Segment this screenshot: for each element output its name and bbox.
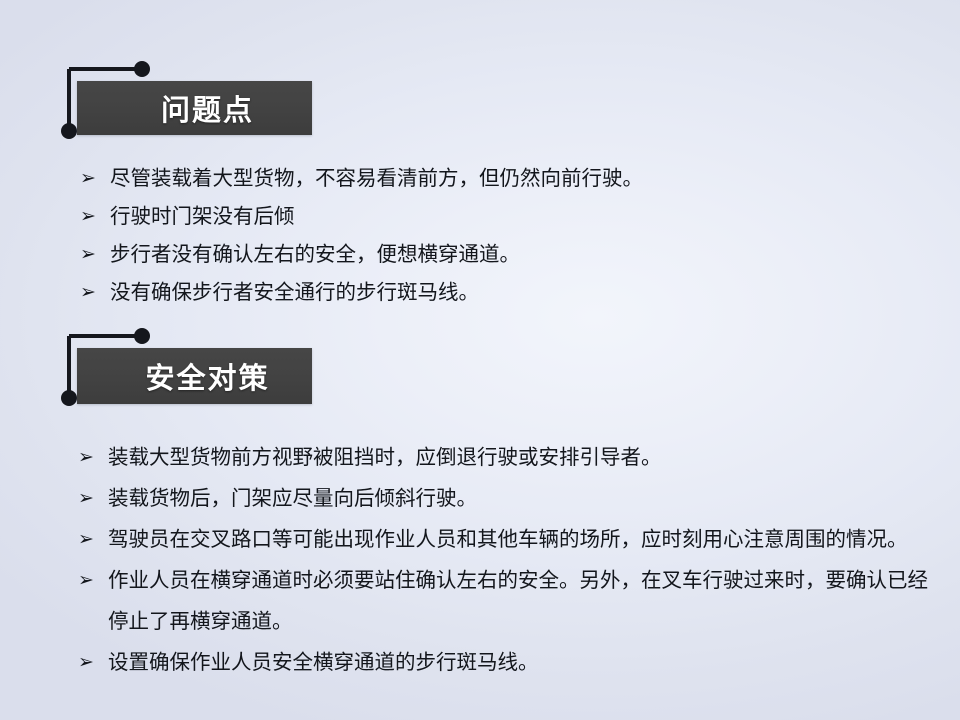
list-item: ➢ 装载大型货物前方视野被阻挡时，应倒退行驶或安排引导者。 [78,437,938,478]
arrow-bullet-icon: ➢ [78,437,108,478]
list-item: ➢ 步行者没有确认左右的安全，便想横穿通道。 [80,236,910,274]
list-item-text: 作业人员在横穿通道时必须要站住确认左右的安全。另外，在叉车行驶过来时，要确认已经… [108,560,938,642]
list-item: ➢ 装载货物后，门架应尽量向后倾斜行驶。 [78,478,938,519]
list-item-text: 驾驶员在交叉路口等可能出现作业人员和其他车辆的场所，应时刻用心注意周围的情况。 [108,519,938,560]
arrow-bullet-icon: ➢ [78,642,108,683]
slide-canvas: 问题点 ➢ 尽管装载着大型货物，不容易看清前方，但仍然向前行驶。 ➢ 行驶时门架… [0,0,960,720]
arrow-bullet-icon: ➢ [78,519,108,560]
section-title-measures: 安全对策 [119,355,269,397]
list-item-text: 设置确保作业人员安全横穿通道的步行斑马线。 [108,642,938,683]
section-title-problems: 问题点 [135,87,254,129]
list-item: ➢ 尽管装载着大型货物，不容易看清前方，但仍然向前行驶。 [80,160,910,198]
list-item: ➢ 作业人员在横穿通道时必须要站住确认左右的安全。另外，在叉车行驶过来时，要确认… [78,560,938,642]
list-item-text: 步行者没有确认左右的安全，便想横穿通道。 [110,236,910,274]
arrow-bullet-icon: ➢ [80,236,110,274]
bullet-list-measures: ➢ 装载大型货物前方视野被阻挡时，应倒退行驶或安排引导者。 ➢ 装载货物后，门架… [78,437,938,683]
arrow-bullet-icon: ➢ [78,560,108,601]
list-item-text: 装载货物后，门架应尽量向后倾斜行驶。 [108,478,938,519]
arrow-bullet-icon: ➢ [80,198,110,236]
list-item-text: 尽管装载着大型货物，不容易看清前方，但仍然向前行驶。 [110,160,910,198]
list-item-text: 装载大型货物前方视野被阻挡时，应倒退行驶或安排引导者。 [108,437,938,478]
list-item-text: 行驶时门架没有后倾 [110,198,910,236]
section-title-bar-measures: 安全对策 [77,348,312,404]
list-item: ➢ 没有确保步行者安全通行的步行斑马线。 [80,274,910,312]
arrow-bullet-icon: ➢ [78,478,108,519]
list-item: ➢ 驾驶员在交叉路口等可能出现作业人员和其他车辆的场所，应时刻用心注意周围的情况… [78,519,938,560]
arrow-bullet-icon: ➢ [80,274,110,312]
arrow-bullet-icon: ➢ [80,160,110,198]
list-item-text: 没有确保步行者安全通行的步行斑马线。 [110,274,910,312]
list-item: ➢ 设置确保作业人员安全横穿通道的步行斑马线。 [78,642,938,683]
list-item: ➢ 行驶时门架没有后倾 [80,198,910,236]
bullet-list-problems: ➢ 尽管装载着大型货物，不容易看清前方，但仍然向前行驶。 ➢ 行驶时门架没有后倾… [80,160,910,312]
section-title-bar-problems: 问题点 [77,81,312,135]
